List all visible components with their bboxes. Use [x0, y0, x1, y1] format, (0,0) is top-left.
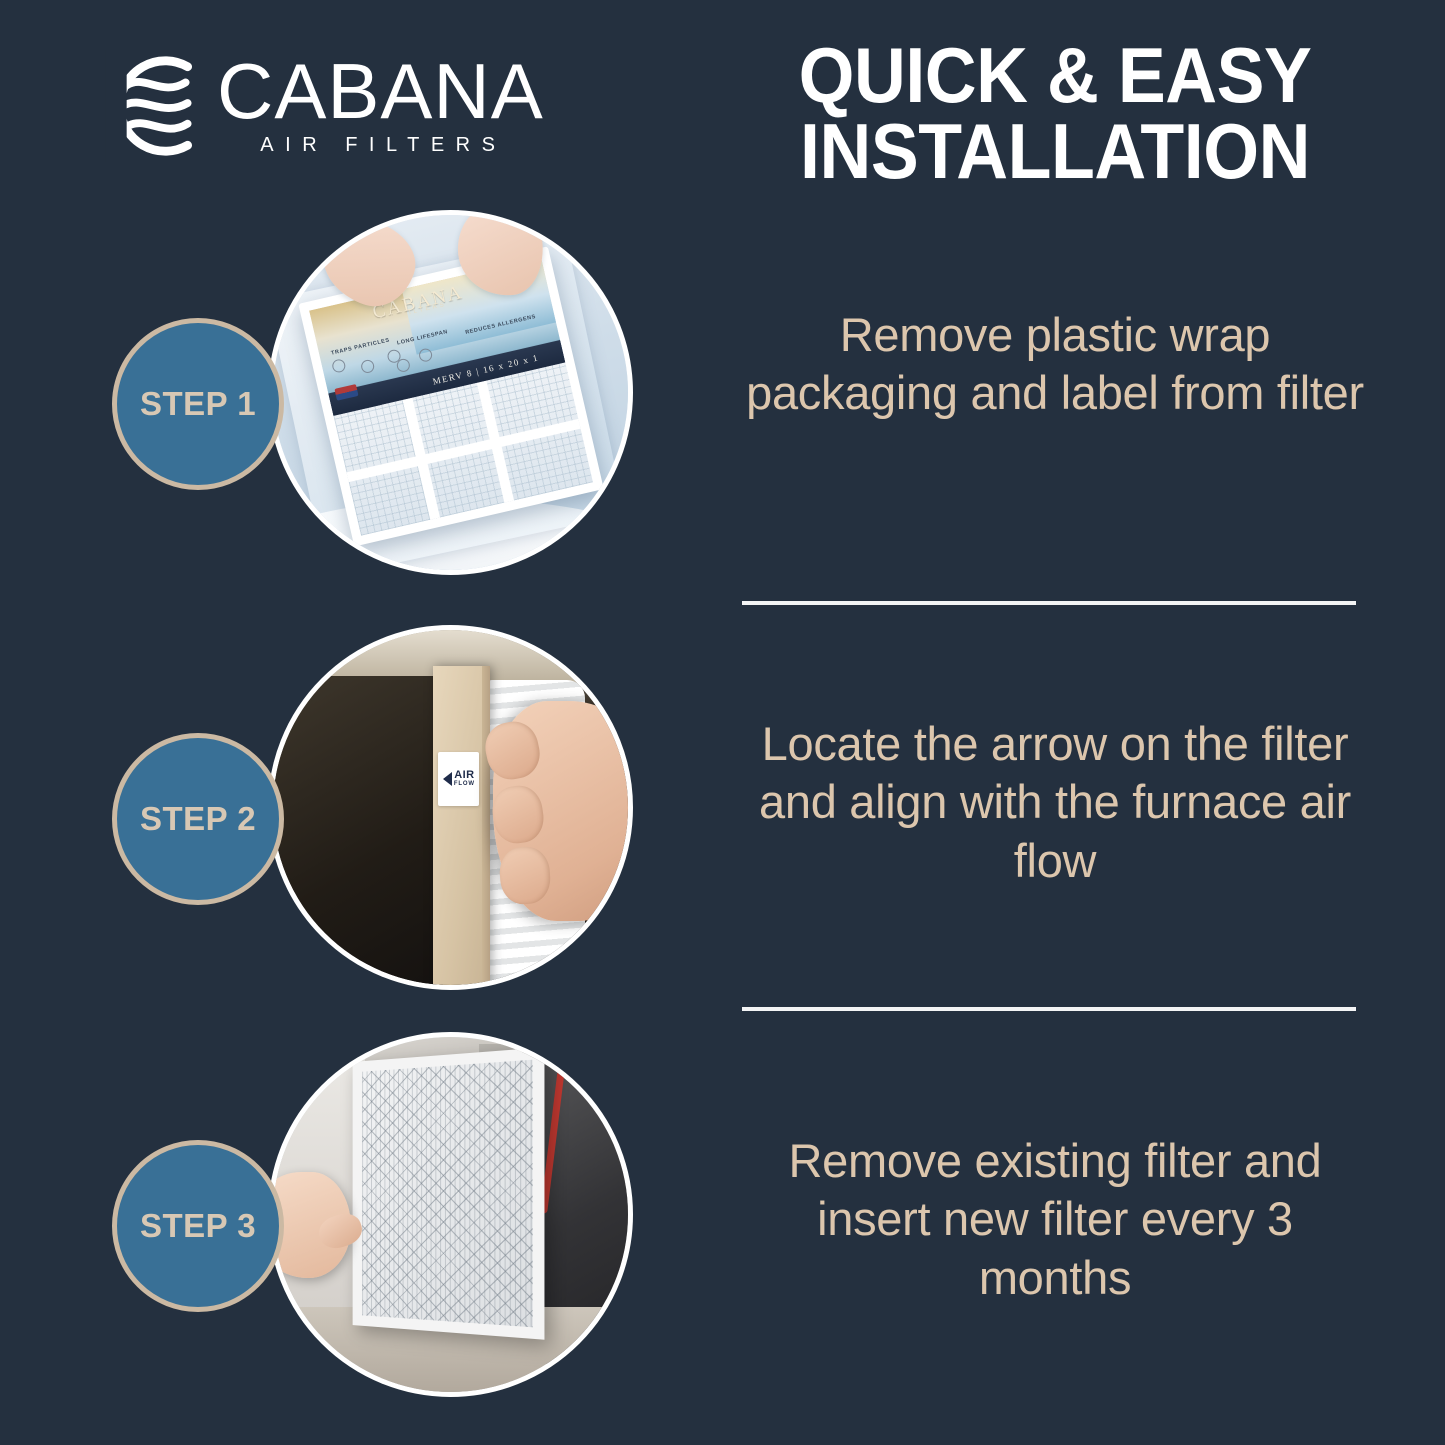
step-2-photo: AIR FLOW [268, 625, 633, 990]
photo-2-scene: AIR FLOW [273, 630, 628, 985]
divider-1 [742, 601, 1356, 605]
step-row-3: STEP 3 Remove existing filter and insert… [0, 1022, 1445, 1432]
step-1-photo: CABANA AIR FILTERS TRAPS PARTICLES LONG … [268, 210, 633, 575]
page-title: QUICK & EASY INSTALLATION [761, 38, 1350, 189]
step-3-badge: STEP 3 [112, 1140, 284, 1312]
airflow-arrow-label: AIR FLOW [438, 752, 479, 805]
photo-1-scene: CABANA AIR FILTERS TRAPS PARTICLES LONG … [273, 215, 628, 570]
step-2-badge-label: STEP 2 [140, 800, 256, 838]
step-1-description: Remove plastic wrap packaging and label … [735, 306, 1375, 423]
step-2-description: Locate the arrow on the filter and align… [735, 715, 1375, 890]
headline-line-2: INSTALLATION [761, 114, 1350, 190]
infographic-page: CABANA AIR FILTERS QUICK & EASY INSTALLA… [0, 0, 1445, 1445]
step-1-badge-label: STEP 1 [140, 385, 256, 423]
step-3-badge-label: STEP 3 [140, 1207, 256, 1245]
cabana-wave-logo-icon [105, 50, 223, 162]
airflow-text: AIR FLOW [454, 770, 475, 787]
airflow-line-1: AIR [454, 770, 474, 781]
airflow-arrow-icon [443, 772, 452, 786]
headline-line-1: QUICK & EASY [799, 31, 1312, 119]
white-framed-filter [353, 1047, 545, 1339]
filter-mesh-media [362, 1059, 532, 1326]
brand-logo: CABANA AIR FILTERS [105, 48, 544, 162]
brand-name: CABANA [217, 54, 544, 128]
brand-tagline: AIR FILTERS [217, 134, 544, 157]
step-2-badge: STEP 2 [112, 733, 284, 905]
frame-edge [482, 666, 490, 991]
brand-wordmark: CABANA AIR FILTERS [217, 48, 544, 157]
header: CABANA AIR FILTERS QUICK & EASY INSTALLA… [0, 0, 1445, 230]
filter-cardboard-frame: AIR FLOW [433, 666, 490, 991]
divider-2 [742, 1007, 1356, 1011]
step-row-2: AIR FLOW STEP 2 Locate the arrow on the … [0, 615, 1445, 1025]
airflow-line-2: FLOW [454, 781, 475, 787]
furnace-dark-interior [273, 676, 443, 985]
step-row-1: CABANA AIR FILTERS TRAPS PARTICLES LONG … [0, 200, 1445, 610]
step-1-badge: STEP 1 [112, 318, 284, 490]
step-3-photo [268, 1032, 633, 1397]
step-3-description: Remove existing filter and insert new fi… [735, 1132, 1375, 1307]
photo-3-scene [273, 1037, 628, 1392]
